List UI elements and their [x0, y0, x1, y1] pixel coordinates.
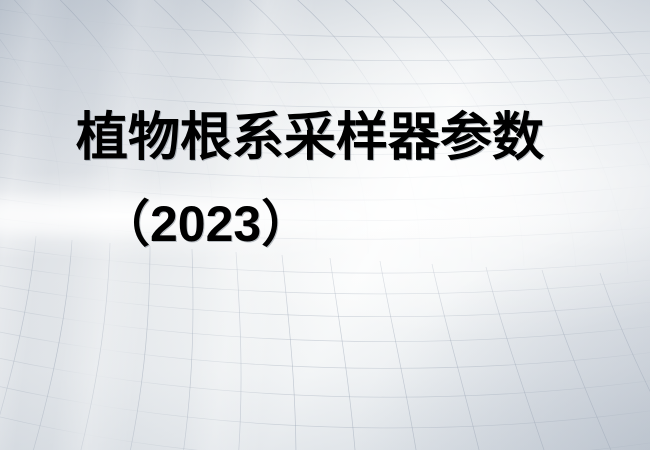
title-slide: 植物根系采样器参数 （2023） — [0, 0, 650, 450]
slide-title-block: 植物根系采样器参数 （2023） — [0, 112, 650, 257]
slide-title-main: 植物根系采样器参数 — [0, 112, 650, 172]
slide-title-year: （2023） — [0, 199, 650, 257]
